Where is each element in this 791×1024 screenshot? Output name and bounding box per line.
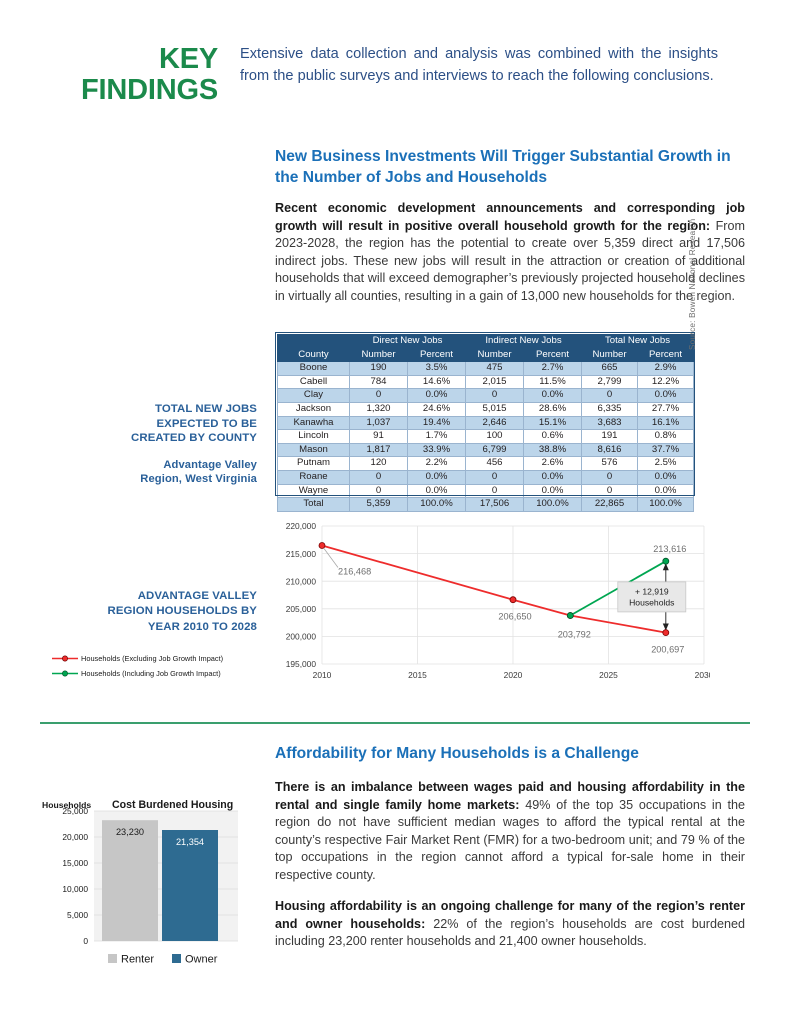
linechart-caption-line3: YEAR 2010 TO 2028: [35, 620, 257, 635]
svg-text:215,000: 215,000: [286, 549, 317, 559]
table-group-header-direct: Direct New Jobs: [350, 335, 466, 349]
table-cell: 0: [582, 484, 638, 498]
table-cell: Jackson: [278, 402, 350, 416]
table-cell: 1,037: [350, 416, 408, 430]
table-cell: 0: [466, 389, 524, 403]
page-title-line2: FINDINGS: [0, 75, 218, 106]
table-row: Wayne00.0%00.0%00.0%: [278, 484, 694, 498]
table-cell: 38.8%: [524, 443, 582, 457]
table-cell: Boone: [278, 362, 350, 376]
table-cell: Roane: [278, 470, 350, 484]
cost-burdened-bar-chart: 05,00010,00015,00020,00025,00023,23021,3…: [38, 795, 268, 975]
page-title-line1: KEY: [0, 44, 218, 75]
table-cell: 456: [466, 457, 524, 471]
table-cell: 0.0%: [408, 484, 466, 498]
section-divider: [40, 722, 750, 724]
paragraph-affordability-2: Housing affordability is an ongoing chal…: [275, 898, 745, 951]
table-cell: 475: [466, 362, 524, 376]
table-cell: 0: [466, 484, 524, 498]
intro-paragraph: Extensive data collection and analysis w…: [240, 44, 718, 106]
table-cell: Clay: [278, 389, 350, 403]
table-cell: 27.7%: [638, 402, 694, 416]
svg-text:23,230: 23,230: [116, 827, 144, 837]
table-cell: 784: [350, 375, 408, 389]
svg-text:10,000: 10,000: [62, 884, 88, 894]
table-cell: 5,359: [350, 498, 408, 512]
table-group-header-total: Total New Jobs: [582, 335, 694, 349]
table-sub-header-row: County Number Percent Number Percent Num…: [278, 348, 694, 362]
table-cell: 8,616: [582, 443, 638, 457]
table-cell: 14.6%: [408, 375, 466, 389]
paragraph-affordability-1: There is an imbalance between wages paid…: [275, 779, 745, 885]
legend-marker-green-icon: [52, 669, 78, 678]
table-header-direct-number: Number: [350, 348, 408, 362]
table-caption-line3: CREATED BY COUNTY: [35, 431, 257, 446]
page-title: KEY FINDINGS: [0, 44, 240, 106]
page-header: KEY FINDINGS Extensive data collection a…: [0, 44, 791, 106]
table-cell: 0.6%: [524, 430, 582, 444]
table-cell: 2,015: [466, 375, 524, 389]
table-row: Putnam1202.2%4562.6%5762.5%: [278, 457, 694, 471]
svg-text:210,000: 210,000: [286, 576, 317, 586]
linechart-caption: ADVANTAGE VALLEY REGION HOUSEHOLDS BY YE…: [35, 589, 257, 635]
table-cell: 0: [350, 484, 408, 498]
svg-text:2010: 2010: [313, 670, 332, 680]
table-cell: 2.9%: [638, 362, 694, 376]
svg-text:20,000: 20,000: [62, 832, 88, 842]
table-row: Jackson1,32024.6%5,01528.6%6,33527.7%: [278, 402, 694, 416]
table-cell: 0.0%: [638, 470, 694, 484]
table-cell: 0: [582, 389, 638, 403]
svg-text:15,000: 15,000: [62, 858, 88, 868]
table-cell: 0: [466, 470, 524, 484]
table-row-total: Total5,359100.0%17,506100.0%22,865100.0%: [278, 498, 694, 512]
table-header-county: County: [278, 348, 350, 362]
svg-text:2015: 2015: [408, 670, 427, 680]
svg-text:5,000: 5,000: [67, 910, 88, 920]
svg-text:205,000: 205,000: [286, 604, 317, 614]
table-cell: 0.0%: [524, 470, 582, 484]
table-cell: 100: [466, 430, 524, 444]
linechart-legend: Households (Excluding Job Growth Impact)…: [52, 651, 252, 681]
table-cell: 24.6%: [408, 402, 466, 416]
table-group-header-indirect: Indirect New Jobs: [466, 335, 582, 349]
table-source-note: Source: Bowen National Research: [688, 219, 697, 350]
table-cell: 12.2%: [638, 375, 694, 389]
svg-text:213,616: 213,616: [653, 544, 686, 554]
svg-text:200,000: 200,000: [286, 632, 317, 642]
table-cell: 2,799: [582, 375, 638, 389]
table-cell: 0: [350, 470, 408, 484]
table-cell: Putnam: [278, 457, 350, 471]
table-cell: 33.9%: [408, 443, 466, 457]
table-cell: 2.7%: [524, 362, 582, 376]
svg-text:2030: 2030: [695, 670, 710, 680]
table-header-indirect-number: Number: [466, 348, 524, 362]
linechart-caption-line2: REGION HOUSEHOLDS BY: [35, 604, 257, 619]
households-line-chart: 195,000200,000205,000210,000215,000220,0…: [272, 518, 710, 690]
table-cell: 0.0%: [408, 470, 466, 484]
table-row: Clay00.0%00.0%00.0%: [278, 389, 694, 403]
table-cell: 91: [350, 430, 408, 444]
table-cell: 0.0%: [408, 389, 466, 403]
table-cell: 190: [350, 362, 408, 376]
table-cell: 100.0%: [524, 498, 582, 512]
table-cell: 665: [582, 362, 638, 376]
svg-text:+ 12,919: + 12,919: [635, 586, 669, 596]
table-cell: 3,683: [582, 416, 638, 430]
table-cell: 0.8%: [638, 430, 694, 444]
legend-item-including: Households (Including Job Growth Impact): [52, 666, 252, 681]
table-caption-sub: Advantage Valley Region, West Virginia: [35, 458, 257, 487]
table-group-header-row: Direct New Jobs Indirect New Jobs Total …: [278, 335, 694, 349]
svg-text:206,650: 206,650: [498, 612, 531, 622]
table-caption-line1: TOTAL NEW JOBS: [35, 402, 257, 417]
legend-marker-red-icon: [52, 654, 78, 663]
table-cell: 28.6%: [524, 402, 582, 416]
table-cell: 5,015: [466, 402, 524, 416]
section-heading-affordability: Affordability for Many Households is a C…: [275, 743, 747, 764]
table-cell: Cabell: [278, 375, 350, 389]
table-cell: 120: [350, 457, 408, 471]
legend-item-excluding: Households (Excluding Job Growth Impact): [52, 651, 252, 666]
table-cell: 100.0%: [408, 498, 466, 512]
table-cell: 6,799: [466, 443, 524, 457]
table-group-header-blank: [278, 335, 350, 349]
table-caption: TOTAL NEW JOBS EXPECTED TO BE CREATED BY…: [35, 402, 257, 487]
svg-text:Renter: Renter: [121, 954, 154, 966]
table-cell: Mason: [278, 443, 350, 457]
table-header-total-percent: Percent: [638, 348, 694, 362]
svg-text:216,468: 216,468: [338, 567, 371, 577]
table-header-indirect-percent: Percent: [524, 348, 582, 362]
svg-text:Households: Households: [629, 597, 674, 607]
table-cell: 6,335: [582, 402, 638, 416]
table-cell: Wayne: [278, 484, 350, 498]
table-header-direct-percent: Percent: [408, 348, 466, 362]
table-cell: Lincoln: [278, 430, 350, 444]
table-cell: 191: [582, 430, 638, 444]
legend-label-excluding: Households (Excluding Job Growth Impact): [81, 654, 223, 663]
table-cell: 11.5%: [524, 375, 582, 389]
table-caption-sub-line1: Advantage Valley: [163, 459, 257, 471]
table-cell: 22,865: [582, 498, 638, 512]
table-row: Roane00.0%00.0%00.0%: [278, 470, 694, 484]
table-cell: 1,817: [350, 443, 408, 457]
svg-text:21,354: 21,354: [176, 837, 204, 847]
table-row: Kanawha1,03719.4%2,64615.1%3,68316.1%: [278, 416, 694, 430]
svg-text:2025: 2025: [599, 670, 618, 680]
table-header-total-number: Number: [582, 348, 638, 362]
table-row: Boone1903.5%4752.7%6652.9%: [278, 362, 694, 376]
table-row: Lincoln911.7%1000.6%1910.8%: [278, 430, 694, 444]
table-cell: 2.5%: [638, 457, 694, 471]
table-cell: 2,646: [466, 416, 524, 430]
table-cell: 2.2%: [408, 457, 466, 471]
paragraph-growth-lead: Recent economic development announcement…: [275, 201, 745, 233]
svg-text:200,697: 200,697: [651, 645, 684, 655]
svg-text:25,000: 25,000: [62, 806, 88, 816]
table-cell: Kanawha: [278, 416, 350, 430]
paragraph-growth: Recent economic development announcement…: [275, 200, 745, 306]
svg-text:195,000: 195,000: [286, 659, 317, 669]
table-cell: 2.6%: [524, 457, 582, 471]
table-cell: 19.4%: [408, 416, 466, 430]
table-cell: 0: [582, 470, 638, 484]
table-cell: 1,320: [350, 402, 408, 416]
linechart-caption-line1: ADVANTAGE VALLEY: [35, 589, 257, 604]
svg-text:220,000: 220,000: [286, 521, 317, 531]
table-cell: 0: [350, 389, 408, 403]
table-cell: 0.0%: [638, 389, 694, 403]
table-cell: 0.0%: [638, 484, 694, 498]
table-cell: 0.0%: [524, 389, 582, 403]
table-cell: Total: [278, 498, 350, 512]
section-heading-growth: New Business Investments Will Trigger Su…: [275, 146, 747, 188]
svg-text:Owner: Owner: [185, 954, 218, 966]
table-cell: 17,506: [466, 498, 524, 512]
table-cell: 0.0%: [524, 484, 582, 498]
svg-text:2020: 2020: [504, 670, 523, 680]
jobs-table: Direct New Jobs Indirect New Jobs Total …: [277, 334, 693, 512]
table-cell: 15.1%: [524, 416, 582, 430]
table-cell: 576: [582, 457, 638, 471]
table-cell: 1.7%: [408, 430, 466, 444]
svg-text:203,792: 203,792: [558, 630, 591, 640]
table-row: Cabell78414.6%2,01511.5%2,79912.2%: [278, 375, 694, 389]
table-cell: 37.7%: [638, 443, 694, 457]
table-cell: 3.5%: [408, 362, 466, 376]
table-row: Mason1,81733.9%6,79938.8%8,61637.7%: [278, 443, 694, 457]
table-cell: 16.1%: [638, 416, 694, 430]
table-caption-line2: EXPECTED TO BE: [35, 417, 257, 432]
svg-text:0: 0: [83, 936, 88, 946]
table-cell: 100.0%: [638, 498, 694, 512]
table-caption-sub-line2: Region, West Virginia: [140, 473, 257, 485]
legend-label-including: Households (Including Job Growth Impact): [81, 669, 221, 678]
